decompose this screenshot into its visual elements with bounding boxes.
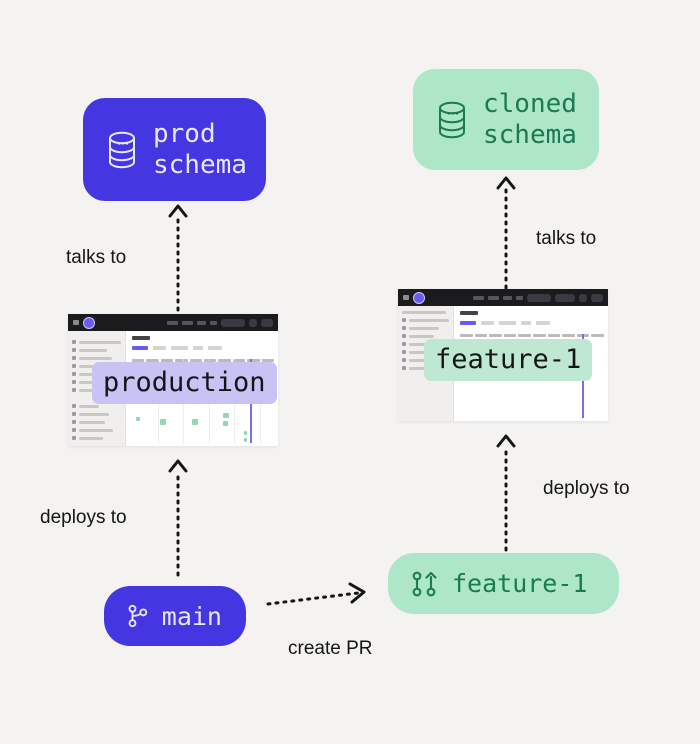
app-tab[interactable] [481, 321, 494, 325]
topbar-menu-item[interactable] [167, 321, 178, 325]
arrow-feature-deploys-to-app [494, 430, 518, 552]
arrow-production-to-prod-schema [166, 200, 190, 320]
sidebar-item[interactable] [72, 348, 121, 352]
app-tab-bar[interactable] [132, 346, 272, 350]
edge-label-deploys-to-feature: deploys to [543, 478, 630, 500]
app-tab[interactable] [153, 346, 166, 350]
git-branch-icon [128, 603, 148, 629]
topbar-avatar[interactable] [591, 294, 603, 302]
production-environment-tag: production [92, 362, 277, 404]
app-tab-bar[interactable] [460, 321, 602, 325]
app-tab[interactable] [460, 321, 476, 325]
topbar-menu-item[interactable] [473, 296, 484, 300]
sidebar-item[interactable] [72, 412, 121, 416]
edge-label-talks-to-prod: talks to [66, 247, 126, 269]
topbar-project-pill[interactable] [221, 319, 245, 327]
sidebar-item[interactable] [72, 340, 121, 344]
sidebar-item[interactable] [402, 318, 449, 322]
database-icon [435, 100, 469, 140]
app-topbar [68, 314, 278, 331]
app-logo-icon [83, 317, 95, 329]
app-tab[interactable] [499, 321, 516, 325]
database-icon [105, 130, 139, 170]
topbar-menu-item[interactable] [516, 296, 523, 300]
hamburger-icon[interactable] [73, 320, 79, 325]
app-tab[interactable] [536, 321, 550, 325]
app-topbar [398, 289, 608, 306]
sidebar-item[interactable] [72, 428, 121, 432]
main-branch-label: main [162, 602, 222, 631]
arrow-feature-to-cloned-schema [494, 172, 518, 290]
arrow-create-pr [266, 578, 376, 612]
hamburger-icon[interactable] [403, 295, 409, 300]
topbar-action[interactable] [579, 294, 587, 302]
topbar-project-pill[interactable] [527, 294, 551, 302]
topbar-menu-item[interactable] [210, 321, 217, 325]
edge-label-create-pr: create PR [288, 638, 372, 660]
app-logo-icon [413, 292, 425, 304]
app-tab[interactable] [208, 346, 222, 350]
topbar-action[interactable] [249, 319, 257, 327]
feature-branch-label: feature-1 [452, 569, 587, 598]
app-tab[interactable] [132, 346, 148, 350]
edge-label-talks-to-clone: talks to [536, 228, 596, 250]
sidebar-item[interactable] [402, 326, 449, 330]
app-tab[interactable] [171, 346, 188, 350]
feature-environment-tag: feature-1 [424, 339, 592, 381]
app-tab[interactable] [521, 321, 531, 325]
prod-schema-node[interactable]: prod schema [83, 98, 266, 201]
topbar-branch-pill[interactable] [555, 294, 575, 302]
diagram-canvas: prod schema cloned schema talks to talks… [0, 0, 700, 744]
app-page-title [460, 311, 478, 315]
main-branch-node[interactable]: main [104, 586, 246, 646]
edge-label-deploys-to-production: deploys to [40, 507, 127, 529]
sidebar-item[interactable] [72, 420, 121, 424]
sidebar-item[interactable] [72, 436, 121, 440]
sidebar-item[interactable] [72, 404, 121, 408]
sidebar-item[interactable] [72, 356, 121, 360]
arrow-main-deploys-to-production [166, 455, 190, 577]
app-page-title [132, 336, 150, 340]
topbar-menu-item[interactable] [488, 296, 499, 300]
app-tab[interactable] [193, 346, 203, 350]
feature-branch-node[interactable]: feature-1 [388, 553, 619, 614]
sidebar-item[interactable] [402, 334, 449, 338]
cloned-schema-node[interactable]: cloned schema [413, 69, 599, 170]
topbar-menu-item[interactable] [503, 296, 512, 300]
prod-schema-label: prod schema [153, 119, 247, 180]
topbar-menu-item[interactable] [182, 321, 193, 325]
topbar-avatar[interactable] [261, 319, 273, 327]
cloned-schema-label: cloned schema [483, 89, 577, 150]
git-pull-request-icon [412, 570, 438, 598]
sidebar-search[interactable] [402, 311, 446, 314]
topbar-menu-item[interactable] [197, 321, 206, 325]
